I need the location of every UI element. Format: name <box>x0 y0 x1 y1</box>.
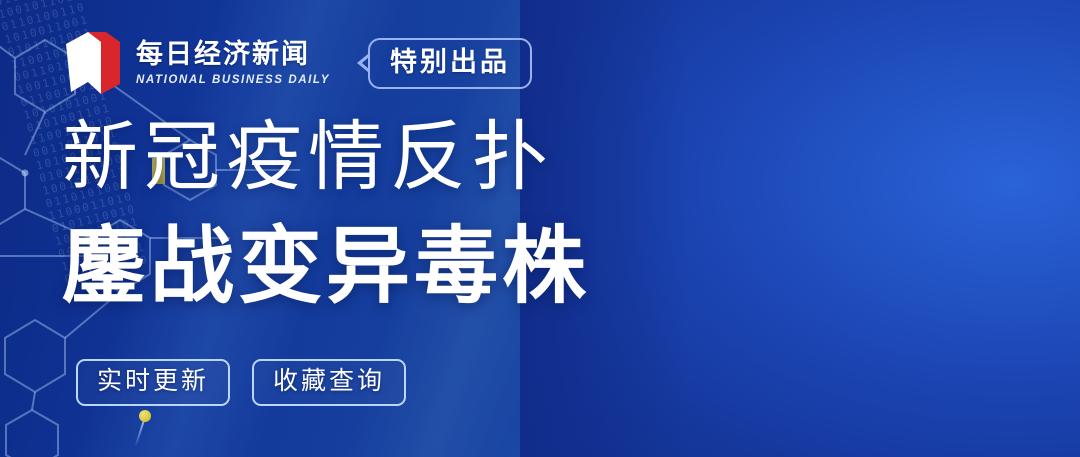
badge-label: 特别出品 <box>368 38 532 89</box>
brand-block: 每日经济新闻 NATIONAL BUSINESS DAILY <box>136 40 330 85</box>
bookmark-query-button[interactable]: 收藏查询 <box>252 359 406 406</box>
brand-name-cn: 每日经济新闻 <box>136 40 330 68</box>
special-edition-badge: 特别出品 <box>368 38 532 89</box>
headline-line-2: 鏖战变异毒株 <box>62 224 590 308</box>
action-buttons: 实时更新 收藏查询 <box>76 359 406 406</box>
banner-header: 每日经济新闻 NATIONAL BUSINESS DAILY 特别出品 <box>62 28 532 98</box>
realtime-update-button[interactable]: 实时更新 <box>76 359 230 406</box>
epidemic-news-banner: 0101100101 1001011010 0110100110 1010011… <box>0 0 1080 457</box>
nbd-n-monogram-logo-icon <box>62 28 124 98</box>
brand-name-en: NATIONAL BUSINESS DAILY <box>136 74 330 86</box>
microscopic-virus-rods-icon <box>520 0 1080 457</box>
gold-node-dot-icon <box>139 410 151 422</box>
headline-line-1: 新冠疫情反扑 <box>62 120 554 196</box>
